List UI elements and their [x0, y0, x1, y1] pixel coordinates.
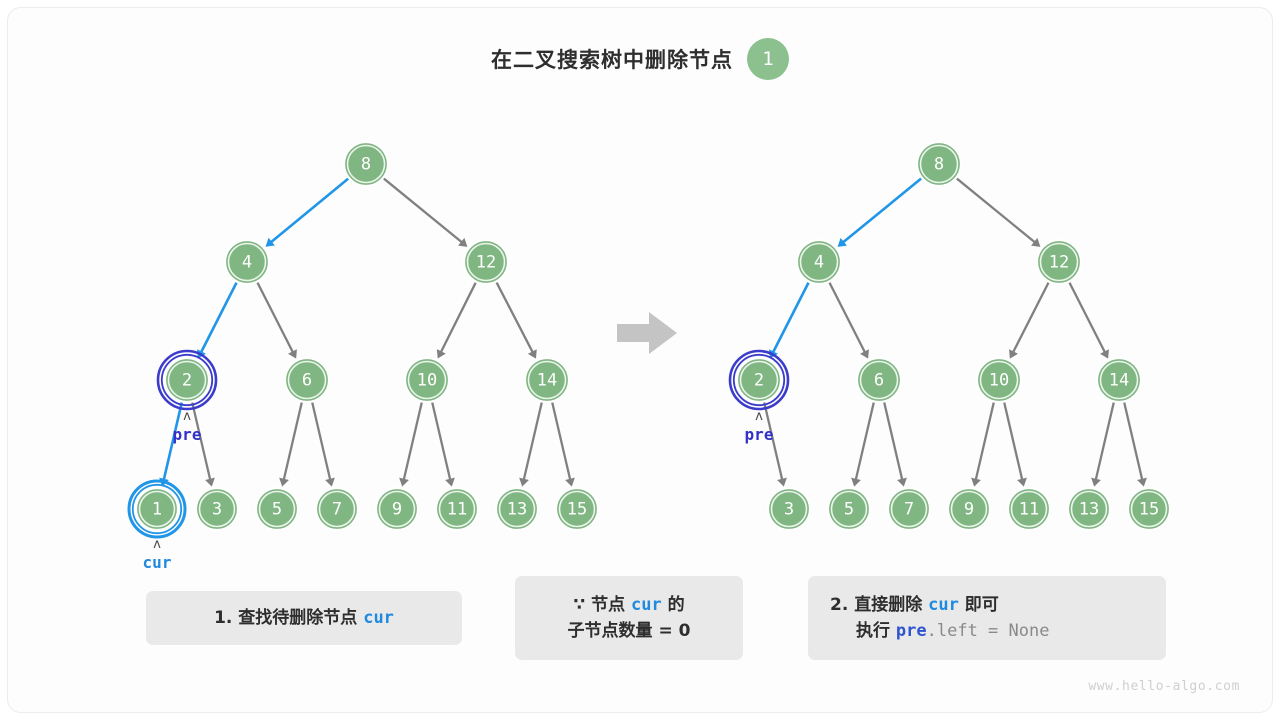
watermark: www.hello-algo.com — [1088, 679, 1240, 694]
tree-edge-arrowhead — [1017, 478, 1027, 487]
tree-edge-arrowhead — [1137, 478, 1147, 487]
tree-node[interactable]: 13 — [1068, 488, 1110, 530]
caption-step-2-prefix: 2. 直接删除 — [830, 595, 928, 615]
tree-node[interactable]: 2 — [730, 351, 788, 409]
tree-edge — [1124, 402, 1142, 479]
caption-step-2-var-cur: cur — [928, 595, 959, 615]
tree-node[interactable]: 4 — [797, 240, 841, 284]
tree-edge-arrowhead — [1091, 478, 1101, 487]
tree-node[interactable]: 9 — [948, 488, 990, 530]
tree-node[interactable]: 8 — [917, 142, 961, 186]
tree-edge — [829, 283, 865, 353]
tree-node[interactable]: 10 — [977, 358, 1021, 402]
tree-edge — [843, 179, 921, 243]
caption-step-2: 2. 直接删除 cur 即可 执行 pre.left = None — [808, 576, 1166, 660]
tree-edge — [856, 402, 874, 479]
caption-reason-var: cur — [631, 595, 662, 615]
tree-edge — [976, 402, 994, 479]
node-label: 11 — [1019, 500, 1039, 520]
tree-edge-arrowhead — [971, 478, 981, 487]
node-label: 3 — [784, 500, 794, 520]
node-label: 2 — [754, 371, 764, 391]
tree-edge — [884, 402, 902, 479]
tree-node[interactable]: 15 — [1128, 488, 1170, 530]
caption-step-2-line-1: 2. 直接删除 cur 即可 — [830, 592, 1144, 618]
pointer-caret-icon: ʌ — [755, 409, 763, 424]
node-label: 5 — [844, 500, 854, 520]
transition-arrow-icon — [615, 308, 681, 358]
tree-edge — [1069, 283, 1105, 353]
tree-node[interactable]: 5 — [828, 488, 870, 530]
tree-edge-arrowhead — [851, 478, 861, 487]
node-label: 10 — [989, 371, 1009, 391]
caption-step-2-suffix: 即可 — [959, 595, 999, 615]
tree-node[interactable]: 6 — [857, 358, 901, 402]
caption-step-1-prefix: 1. 查找待删除节点 — [214, 608, 363, 628]
node-label: 8 — [934, 155, 944, 175]
node-label: 6 — [874, 371, 884, 391]
tree-edge — [957, 179, 1035, 243]
diagram-canvas: 在二叉搜索树中删除节点 1 841226101413579111315ʌpreʌ… — [7, 7, 1273, 713]
caption-reason: ∵ 节点 cur 的 子节点数量 = 0 — [515, 576, 743, 660]
tree-edge — [773, 283, 809, 353]
caption-step-2-expr: .left = None — [927, 621, 1050, 641]
caption-step-2-line-2: 执行 pre.left = None — [830, 618, 1144, 644]
tree-node[interactable]: 7 — [888, 488, 930, 530]
tree-node[interactable]: 11 — [1008, 488, 1050, 530]
pointer-label-pre: pre — [745, 425, 774, 444]
node-label: 12 — [1049, 253, 1069, 273]
node-label: 15 — [1139, 500, 1159, 520]
tree-edge-arrowhead — [777, 478, 787, 487]
node-label: 9 — [964, 500, 974, 520]
caption-step-1-var: cur — [363, 608, 394, 628]
node-label: 14 — [1109, 371, 1129, 391]
caption-reason-line-1: ∵ 节点 cur 的 — [573, 592, 684, 618]
node-label: 7 — [904, 500, 914, 520]
caption-reason-prefix: ∵ 节点 — [573, 595, 631, 615]
tree-node[interactable]: 3 — [768, 488, 810, 530]
node-label: 4 — [814, 253, 824, 273]
tree-node[interactable]: 14 — [1097, 358, 1141, 402]
caption-step-1-line: 1. 查找待删除节点 cur — [214, 605, 394, 631]
caption-step-2-var-pre: pre — [896, 621, 927, 641]
caption-reason-suffix: 的 — [662, 595, 685, 615]
tree-edge — [1004, 402, 1022, 479]
caption-step-2-exec-prefix: 执行 — [856, 621, 896, 641]
tree-edge-arrowhead — [897, 478, 907, 487]
tree-node[interactable]: 12 — [1037, 240, 1081, 284]
tree-edge — [1013, 283, 1049, 353]
tree-edge — [1096, 402, 1114, 479]
node-label: 13 — [1079, 500, 1099, 520]
caption-reason-line-2: 子节点数量 = 0 — [568, 618, 691, 644]
caption-step-1: 1. 查找待删除节点 cur — [146, 591, 462, 645]
